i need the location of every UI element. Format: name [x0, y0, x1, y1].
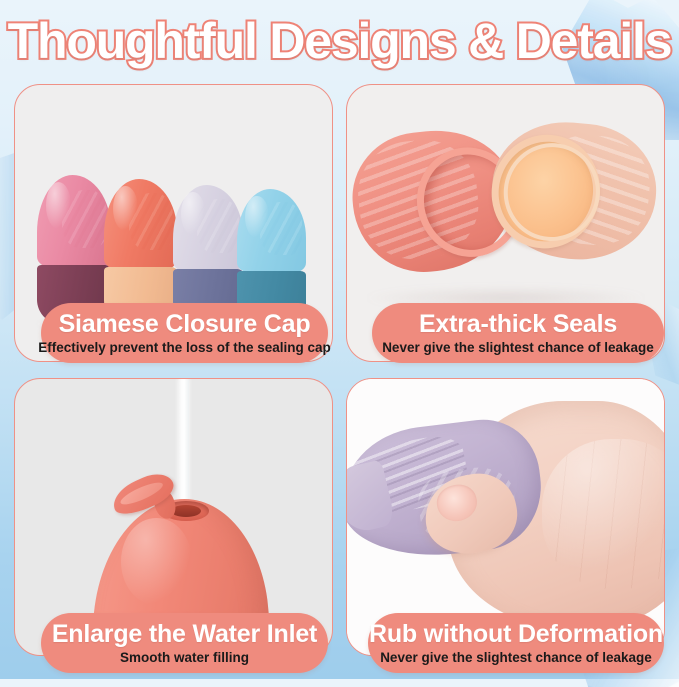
page-title-text: Thoughtful Designs & Details [0, 10, 679, 72]
cap-gloss [245, 196, 268, 238]
caption-subtitle: Never give the slightest chance of leaka… [382, 339, 654, 356]
cap-gloss [46, 182, 71, 229]
caption-subtitle: Effectively prevent the loss of the seal… [38, 339, 331, 356]
caption-siamese-closure-cap: Siamese Closure Cap Effectively prevent … [41, 303, 328, 363]
cap-top [104, 179, 177, 270]
cap-top [237, 189, 306, 273]
hand-knuckles [542, 439, 665, 589]
cap-gloss [113, 186, 138, 231]
caption-rub-without-deformation: Rub without Deformation Never give the s… [368, 613, 664, 673]
caption-enlarge-the-water-inlet: Enlarge the Water Inlet Smooth water fil… [41, 613, 328, 673]
feature-grid [14, 84, 665, 668]
caption-subtitle: Smooth water filling [120, 649, 249, 666]
cap-top [37, 175, 111, 268]
bottle-gloss [121, 518, 191, 605]
page-title: Thoughtful Designs & Details [0, 10, 679, 72]
caption-title: Extra-thick Seals [419, 311, 617, 338]
water-stream [178, 378, 189, 509]
peach-seal-bottle [486, 116, 661, 266]
caption-title: Siamese Closure Cap [59, 311, 311, 338]
caption-subtitle: Never give the slightest chance of leaka… [380, 649, 652, 666]
caption-title: Enlarge the Water Inlet [52, 621, 317, 648]
caption-extra-thick-seals: Extra-thick Seals Never give the slighte… [372, 303, 664, 363]
cap-top [173, 185, 243, 272]
caption-title: Rub without Deformation [369, 621, 663, 648]
